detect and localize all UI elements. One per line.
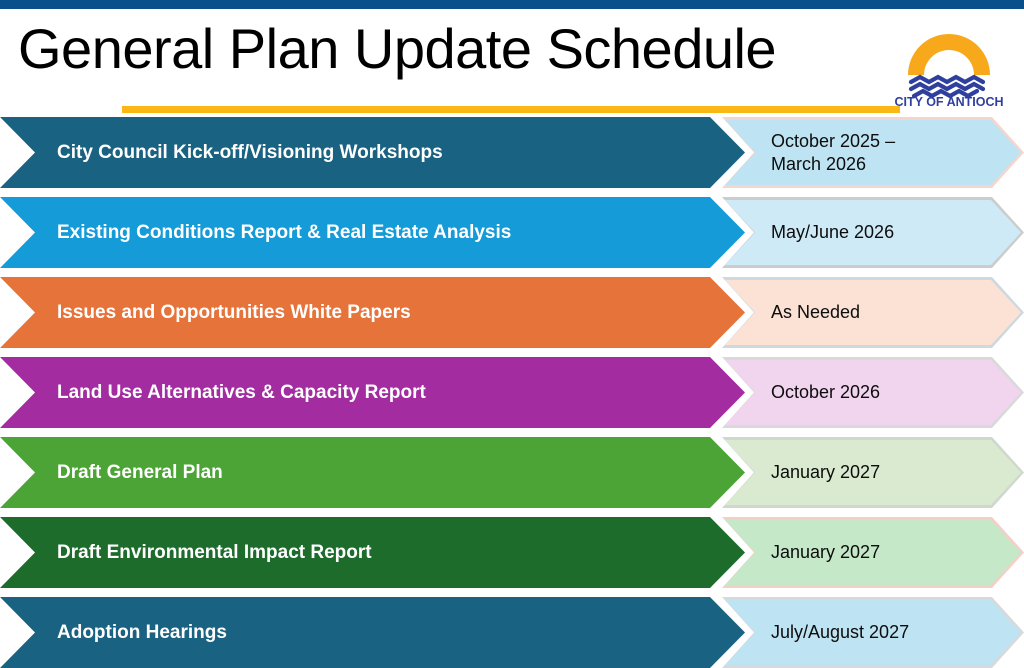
date-chevron-fill: October 2026: [725, 360, 1021, 425]
schedule-row: Draft General Plan January 2027: [0, 437, 1024, 508]
date-chevron[interactable]: May/June 2026: [722, 197, 1024, 268]
schedule-row: Land Use Alternatives & Capacity Report …: [0, 357, 1024, 428]
page-title: General Plan Update Schedule: [18, 21, 776, 77]
task-chevron[interactable]: Draft General Plan: [0, 437, 745, 508]
date-chevron[interactable]: July/August 2027: [722, 597, 1024, 668]
date-label: January 2027: [725, 461, 880, 484]
task-chevron[interactable]: Draft Environmental Impact Report: [0, 517, 745, 588]
task-label: Land Use Alternatives & Capacity Report: [0, 382, 426, 404]
date-chevron[interactable]: January 2027: [722, 437, 1024, 508]
date-label: As Needed: [725, 301, 860, 324]
page-header: General Plan Update Schedule CITY OF ANT…: [0, 9, 1024, 117]
date-chevron-fill: January 2027: [725, 440, 1021, 505]
schedule-row: Existing Conditions Report & Real Estate…: [0, 197, 1024, 268]
date-chevron[interactable]: October 2026: [722, 357, 1024, 428]
task-chevron[interactable]: Land Use Alternatives & Capacity Report: [0, 357, 745, 428]
schedule-row: City Council Kick-off/Visioning Workshop…: [0, 117, 1024, 188]
date-label: October 2026: [725, 381, 880, 404]
task-chevron[interactable]: Adoption Hearings: [0, 597, 745, 668]
task-chevron[interactable]: City Council Kick-off/Visioning Workshop…: [0, 117, 745, 188]
top-accent-bar-inner: [0, 0, 1024, 9]
schedule-row: Issues and Opportunities White Papers As…: [0, 277, 1024, 348]
task-label: Issues and Opportunities White Papers: [0, 302, 411, 324]
schedule-rows: City Council Kick-off/Visioning Workshop…: [0, 117, 1024, 668]
date-chevron-fill: July/August 2027: [725, 600, 1021, 665]
task-label: Adoption Hearings: [0, 622, 227, 644]
date-chevron-fill: As Needed: [725, 280, 1021, 345]
logo-wordmark: CITY OF ANTIOCH: [894, 95, 1003, 107]
date-label: October 2025 – March 2026: [725, 130, 895, 175]
task-chevron[interactable]: Existing Conditions Report & Real Estate…: [0, 197, 745, 268]
date-chevron-fill: May/June 2026: [725, 200, 1021, 265]
sun-arch-icon: [908, 34, 990, 75]
date-chevron-fill: January 2027: [725, 520, 1021, 585]
schedule-row: Draft Environmental Impact Report Januar…: [0, 517, 1024, 588]
date-label: July/August 2027: [725, 621, 909, 644]
task-chevron[interactable]: Issues and Opportunities White Papers: [0, 277, 745, 348]
city-of-antioch-logo: CITY OF ANTIOCH: [886, 19, 1012, 107]
date-chevron-fill: October 2025 – March 2026: [725, 120, 1021, 185]
date-chevron[interactable]: January 2027: [722, 517, 1024, 588]
water-waves-icon: [911, 77, 983, 96]
task-label: City Council Kick-off/Visioning Workshop…: [0, 142, 443, 164]
task-label: Draft Environmental Impact Report: [0, 542, 372, 564]
schedule-row: Adoption Hearings July/August 2027: [0, 597, 1024, 668]
top-accent-bar: [0, 0, 1024, 9]
date-label: May/June 2026: [725, 221, 894, 244]
title-underline-rule: [122, 106, 900, 113]
task-label: Draft General Plan: [0, 462, 223, 484]
task-label: Existing Conditions Report & Real Estate…: [0, 222, 511, 244]
date-chevron[interactable]: As Needed: [722, 277, 1024, 348]
date-label: January 2027: [725, 541, 880, 564]
date-chevron[interactable]: October 2025 – March 2026: [722, 117, 1024, 188]
